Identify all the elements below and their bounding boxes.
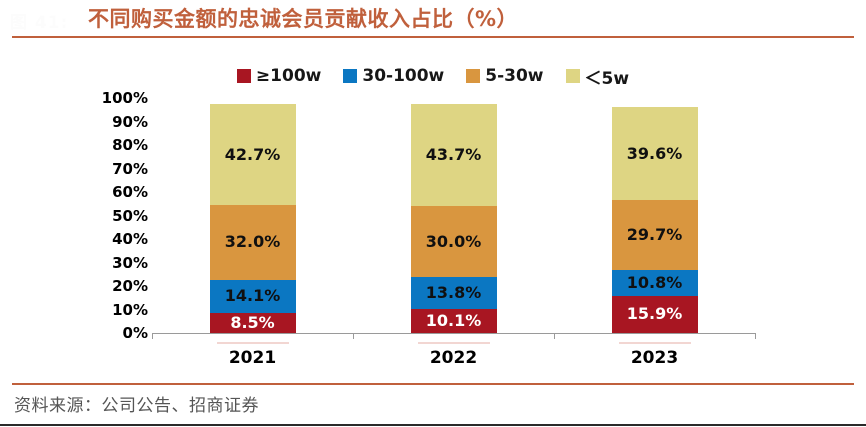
legend-label: 30-100w: [362, 66, 444, 86]
legend-swatch-icon: [237, 69, 251, 83]
y-axis-tick-label: 40%: [86, 232, 148, 247]
y-axis-tick-label: 10%: [86, 303, 148, 318]
y-axis-tick-label: 100%: [86, 91, 148, 106]
x-axis-category-label: 2021: [193, 348, 313, 368]
legend-label: 5-30w: [485, 66, 543, 86]
bar-value-label: 10.1%: [426, 313, 482, 329]
x-label-underline: [418, 342, 490, 344]
legend-swatch-icon: [343, 69, 357, 83]
bar-value-label: 8.5%: [230, 315, 274, 331]
chart-plot-area: 100%90%80%70%60%50%40%30%20%10%0% 42.7%3…: [0, 98, 866, 348]
bar-segment[interactable]: 8.5%: [210, 313, 296, 333]
bar-segment[interactable]: 39.6%: [612, 107, 698, 200]
legend-label: ＜5w: [585, 64, 630, 89]
bar-value-label: 32.0%: [225, 234, 281, 250]
y-axis: 100%90%80%70%60%50%40%30%20%10%0%: [86, 98, 148, 333]
y-axis-tick-label: 20%: [86, 279, 148, 294]
y-axis-tick-label: 80%: [86, 138, 148, 153]
y-axis-tick-label: 90%: [86, 115, 148, 130]
bar-segment[interactable]: 32.0%: [210, 205, 296, 280]
bar-value-label: 39.6%: [627, 146, 683, 162]
bar-segment[interactable]: 13.8%: [411, 277, 497, 309]
legend-item[interactable]: ≥100w: [237, 66, 321, 86]
x-axis-tick: [353, 333, 354, 339]
bar-segment[interactable]: 14.1%: [210, 280, 296, 313]
x-axis-labels: 202120222023: [152, 348, 755, 374]
chart-legend: ≥100w30-100w5-30w＜5w: [0, 64, 866, 88]
x-axis-tick: [152, 333, 153, 339]
x-axis-category-label: 2023: [595, 348, 715, 368]
bar-value-label: 14.1%: [225, 288, 281, 304]
x-label-underline: [217, 342, 289, 344]
bottom-border: [0, 424, 866, 426]
page-title: 不同购买金额的忠诚会员贡献收入占比（%）: [88, 3, 518, 33]
bar-value-label: 29.7%: [627, 227, 683, 243]
y-axis-tick-label: 0%: [86, 326, 148, 341]
bar-segment[interactable]: 30.0%: [411, 206, 497, 277]
y-axis-tick-label: 50%: [86, 209, 148, 224]
y-axis-tick-label: 60%: [86, 185, 148, 200]
footer-divider: [12, 383, 854, 385]
figure-number-watermark: 图 41:: [10, 8, 72, 30]
bars-container: 42.7%32.0%14.1%8.5%43.7%30.0%13.8%10.1%3…: [152, 98, 755, 333]
bar-value-label: 30.0%: [426, 234, 482, 250]
legend-swatch-icon: [566, 69, 580, 83]
bar-value-label: 10.8%: [627, 275, 683, 291]
title-divider: [12, 36, 854, 38]
bar-group[interactable]: 42.7%32.0%14.1%8.5%: [210, 104, 296, 333]
legend-item[interactable]: ＜5w: [566, 64, 630, 89]
x-axis-tick: [554, 333, 555, 339]
bar-value-label: 42.7%: [225, 147, 281, 163]
y-axis-tick-label: 70%: [86, 162, 148, 177]
x-axis-tick: [755, 333, 756, 339]
bar-group[interactable]: 39.6%29.7%10.8%15.9%: [612, 107, 698, 333]
legend-label: ≥100w: [256, 66, 321, 86]
legend-item[interactable]: 30-100w: [343, 66, 444, 86]
legend-item[interactable]: 5-30w: [466, 66, 543, 86]
bar-group[interactable]: 43.7%30.0%13.8%10.1%: [411, 104, 497, 333]
y-axis-tick-label: 30%: [86, 256, 148, 271]
legend-swatch-icon: [466, 69, 480, 83]
x-axis-line: [152, 333, 755, 334]
bar-value-label: 13.8%: [426, 285, 482, 301]
bar-segment[interactable]: 43.7%: [411, 104, 497, 207]
x-label-underline: [619, 342, 691, 344]
title-block: 图 41: 不同购买金额的忠诚会员贡献收入占比（%）: [0, 0, 866, 40]
x-axis-category-label: 2022: [394, 348, 514, 368]
bar-value-label: 43.7%: [426, 147, 482, 163]
bar-segment[interactable]: 15.9%: [612, 296, 698, 333]
source-note: 资料来源：公司公告、招商证券: [14, 391, 259, 416]
bar-value-label: 15.9%: [627, 306, 683, 322]
bar-segment[interactable]: 10.8%: [612, 270, 698, 295]
bar-segment[interactable]: 42.7%: [210, 104, 296, 204]
bar-segment[interactable]: 10.1%: [411, 309, 497, 333]
bar-segment[interactable]: 29.7%: [612, 200, 698, 270]
